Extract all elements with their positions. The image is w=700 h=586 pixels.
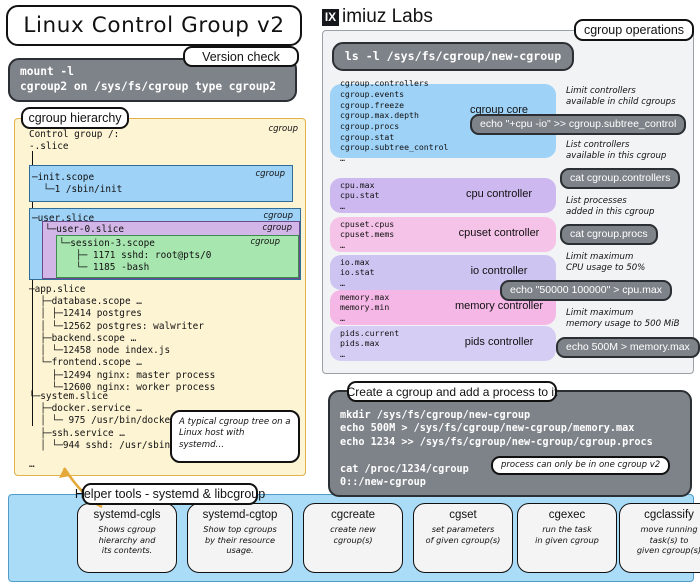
- create-cgroup-label: Create a cgroup and add a process to it: [347, 381, 557, 402]
- tool-card-cgset[interactable]: cgset set parameters of given cgroup(s): [413, 503, 513, 573]
- annotation-command-list-controllers: cat cgroup.controllers: [560, 168, 680, 189]
- tool-desc: run the task in given cgroup: [523, 524, 611, 545]
- brand-name: imiuz Labs: [342, 6, 433, 28]
- create-cgroup-terminal: mkdir /sys/fs/cgroup/new-cgroup echo 500…: [328, 390, 692, 497]
- brand-logo: IX imiuz Labs: [322, 6, 433, 28]
- init-scope-box: cgroup ─init.scope └─1 /sbin/init: [29, 165, 293, 202]
- tool-card-cgclassify[interactable]: cgclassify move running task(s) to given…: [619, 503, 700, 573]
- brand-mark-icon: IX: [322, 9, 339, 26]
- tool-desc: Show top cgroups by their resource usage…: [193, 524, 287, 556]
- operations-label: cgroup operations: [574, 19, 694, 41]
- ls-command-text: ls -l /sys/fs/cgroup/new-cgroup: [345, 49, 561, 63]
- annotation-command-subtree-control: echo "+cpu -io" >> cgroup.subtree_contro…: [470, 114, 686, 135]
- hierarchy-note: A typical cgroup tree on a Linux host wi…: [170, 410, 300, 463]
- controller-keys: pids.current pids.max …: [330, 328, 442, 360]
- tool-card-systemd-cgls[interactable]: systemd-cgls Shows cgroup hierarchy and …: [77, 503, 177, 573]
- hierarchy-root-text: Control group /: -.slice: [29, 129, 119, 153]
- tool-name: cgexec: [523, 509, 611, 521]
- tool-card-cgcreate[interactable]: cgcreate create new cgroup(s): [303, 503, 403, 573]
- session-3-scope-box: cgroup └─session-3.scope ├─ 1171 sshd: r…: [56, 235, 299, 278]
- cgroup-tag: cgroup: [255, 169, 285, 179]
- mount-command-text: mount -l cgroup2 on /sys/fs/cgroup type …: [20, 65, 276, 93]
- infographic-canvas: Linux Control Group v2 IX imiuz Labs Ver…: [0, 0, 700, 586]
- one-cgroup-note: process can only be in one cgroup v2: [491, 456, 670, 475]
- controller-name: io controller: [442, 265, 556, 277]
- cgroup-tag: cgroup: [262, 223, 292, 233]
- annotation-text-subtree-control: Limit controllers available in child cgr…: [566, 86, 696, 108]
- controller-name: pids controller: [442, 336, 556, 348]
- tool-name: cgclassify: [625, 509, 700, 521]
- helper-tools-panel: systemd-cgls Shows cgroup hierarchy and …: [8, 494, 694, 582]
- tool-card-systemd-cgtop[interactable]: systemd-cgtop Show top cgroups by their …: [187, 503, 293, 573]
- controller-name: memory controller: [442, 300, 556, 312]
- tool-name: cgset: [419, 509, 507, 521]
- user-0-slice-box: cgroup └─user-0.slice cgroup └─session-3…: [42, 221, 300, 279]
- tool-name: systemd-cgls: [83, 509, 171, 521]
- hierarchy-ellipsis: …: [29, 459, 35, 471]
- version-check-label: Version check: [183, 46, 299, 67]
- annotation-text-memory-limit: Limit maximum memory usage to 500 MiB: [566, 308, 696, 330]
- tool-card-cgexec[interactable]: cgexec run the task in given cgroup: [517, 503, 617, 573]
- tool-name: cgcreate: [309, 509, 397, 521]
- helper-tools-label: Helper tools - systemd & libcgroup: [82, 483, 258, 505]
- tool-desc: Shows cgroup hierarchy and its contents.: [83, 524, 171, 556]
- annotation-command-cpu-limit: echo "50000 100000" > cpu.max: [500, 280, 672, 301]
- tool-desc: move running task(s) to given cgroup(s): [625, 524, 700, 556]
- controller-keys: io.max io.stat …: [330, 257, 442, 289]
- controller-keys: cpuset.cpus cpuset.mems …: [330, 219, 442, 251]
- tool-desc: set parameters of given cgroup(s): [419, 524, 507, 545]
- annotation-text-cpu-limit: Limit maximum CPU usage to 50%: [566, 252, 696, 274]
- controller-keys: cgroup.controllers cgroup.events cgroup.…: [330, 78, 442, 163]
- user-slice-box: cgroup ─user.slice cgroup └─user-0.slice…: [29, 208, 301, 280]
- cgroup-tag: cgroup: [263, 211, 293, 221]
- cgroup-tag: cgroup: [250, 237, 280, 247]
- annotation-text-list-controllers: List controllers available in this cgrou…: [566, 140, 696, 162]
- create-cgroup-command: mkdir /sys/fs/cgroup/new-cgroup echo 500…: [340, 410, 653, 488]
- annotation-command-memory-limit: echo 500M > memory.max: [556, 337, 700, 358]
- page-title: Linux Control Group v2: [6, 5, 302, 46]
- hierarchy-label: cgroup hierarchy: [21, 107, 129, 129]
- tool-name: systemd-cgtop: [193, 509, 287, 521]
- cgroup-tag: cgroup: [268, 124, 298, 134]
- controller-row-pids: pids.current pids.max … pids controller: [330, 326, 556, 361]
- system-slice-tree: └─system.slice ├─docker.service … │ └─ 9…: [29, 391, 170, 452]
- controller-row-cpu: cpu.max cpu.stat … cpu controller: [330, 178, 556, 213]
- annotation-command-list-processes: cat cgroup.procs: [560, 224, 658, 245]
- init-scope-tree: ─init.scope └─1 /sbin/init: [32, 172, 122, 196]
- ls-command-terminal: ls -l /sys/fs/cgroup/new-cgroup: [332, 42, 574, 71]
- controller-keys: cpu.max cpu.stat …: [330, 180, 442, 212]
- app-slice-tree: ─app.slice ├─database.scope … │ ├─12414 …: [29, 284, 215, 394]
- annotation-text-list-processes: List processes added in this cgroup: [566, 196, 696, 218]
- controller-row-cpuset: cpuset.cpus cpuset.mems … cpuset control…: [330, 217, 556, 252]
- controller-name: cpuset controller: [442, 227, 556, 239]
- tool-desc: create new cgroup(s): [309, 524, 397, 545]
- session-3-scope-tree: └─session-3.scope ├─ 1171 sshd: root@pts…: [59, 238, 211, 275]
- controller-name: cpu controller: [442, 188, 556, 200]
- controller-keys: memory.max memory.min …: [330, 292, 442, 324]
